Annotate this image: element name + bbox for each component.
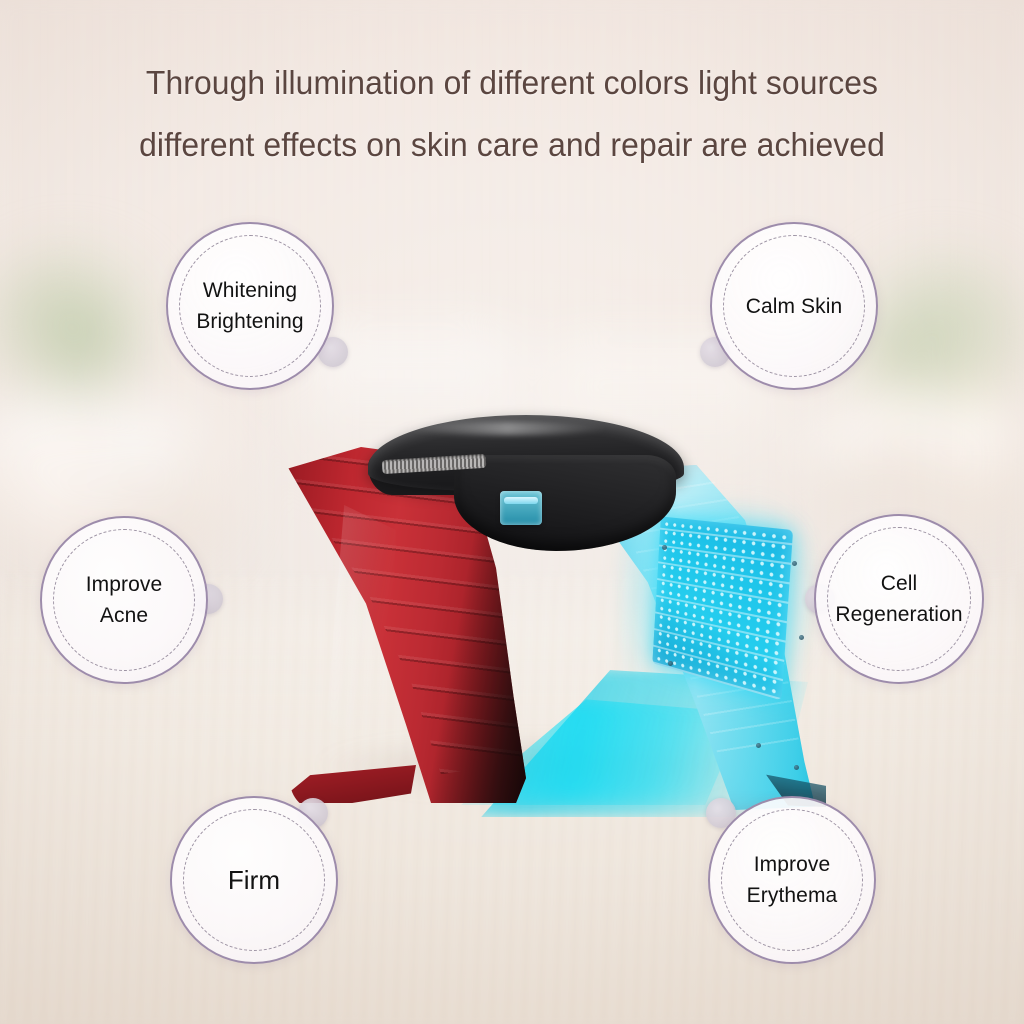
callout-firm[interactable]: Firm [170, 796, 338, 964]
blue-panel-screw [792, 561, 797, 566]
callout-label-whitening: Whitening Brightening [190, 275, 309, 337]
callout-improve-acne[interactable]: Improve Acne [40, 516, 208, 684]
callout-line-2: Regeneration [835, 603, 962, 626]
callout-whitening-brightening[interactable]: Whitening Brightening [166, 222, 334, 390]
canopy-top-highlight [408, 422, 608, 435]
callout-improve-erythema[interactable]: Improve Erythema [708, 796, 876, 964]
callout-line-1: Improve [86, 573, 163, 596]
device-hinge-bar [504, 497, 538, 504]
callout-label-calm-skin: Calm Skin [740, 291, 849, 322]
callout-line-1: Calm Skin [746, 295, 843, 318]
product-infographic-canvas: Through illumination of different colors… [0, 0, 1024, 1024]
callout-line-2: Brightening [196, 310, 303, 333]
blue-panel-screw [799, 635, 804, 640]
callout-cell-regeneration[interactable]: Cell Regeneration [814, 514, 984, 684]
callout-line-1: Firm [228, 865, 280, 895]
callout-label-cell-regeneration: Cell Regeneration [829, 568, 968, 630]
callout-line-1: Improve [754, 853, 831, 876]
callout-label-improve-acne: Improve Acne [80, 569, 169, 631]
product-device [258, 405, 818, 825]
callout-line-1: Whitening [203, 279, 297, 302]
callout-label-improve-erythema: Improve Erythema [741, 849, 844, 911]
callout-label-firm: Firm [222, 864, 286, 896]
callout-calm-skin[interactable]: Calm Skin [710, 222, 878, 390]
headline-line-2: different effects on skin care and repai… [18, 114, 1006, 176]
callout-line-1: Cell [881, 572, 918, 595]
red-panel-foot [290, 765, 416, 803]
blue-panel-screw [668, 661, 673, 666]
headline: Through illumination of different colors… [18, 52, 1006, 176]
callout-line-2: Erythema [747, 884, 838, 907]
callout-line-2: Acne [100, 604, 148, 627]
headline-line-1: Through illumination of different colors… [146, 64, 878, 101]
